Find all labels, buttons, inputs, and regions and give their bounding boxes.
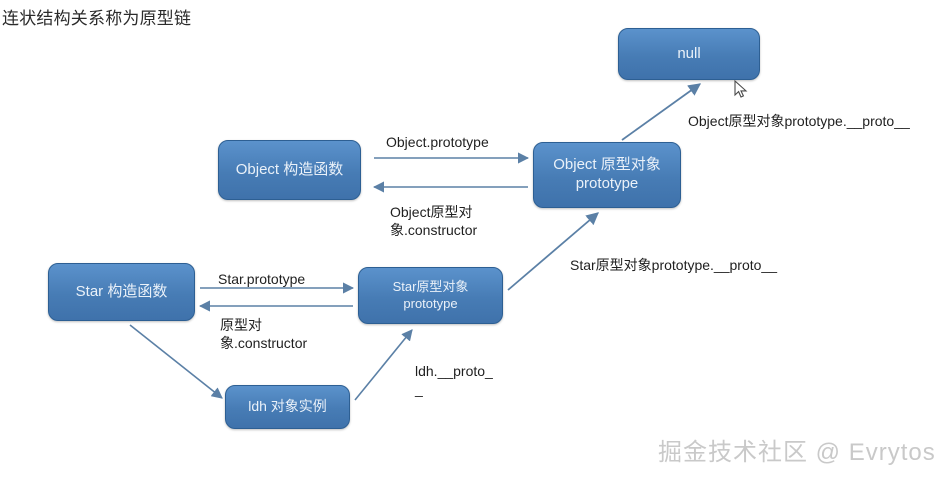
edge-ldh-to-starprototype	[355, 330, 412, 400]
edge-layer	[0, 0, 949, 480]
edge-label-star-prototype: Star.prototype	[218, 270, 305, 288]
edge-label-object-proto-chain-text: Object原型对象prototype.__proto__	[688, 112, 910, 130]
node-object-prototype-label-line2: prototype	[553, 175, 661, 194]
edge-label-object-constructor: Object原型对 象.constructor	[390, 203, 477, 239]
node-star-prototype[interactable]: Star原型对象 prototype	[358, 267, 503, 324]
node-ldh-instance[interactable]: ldh 对象实例	[225, 385, 350, 429]
edge-label-star-proto-chain-text: Star原型对象prototype.__proto__	[570, 256, 777, 274]
page-title: 连状结构关系称为原型链	[2, 4, 191, 29]
node-object-constructor[interactable]: Object 构造函数	[218, 140, 361, 200]
diagram-canvas: 连状结构关系称为原型链 null	[0, 0, 949, 480]
node-star-constructor-label: Star 构造函数	[76, 283, 168, 302]
edge-label-object-proto-chain: Object原型对象prototype.__proto__	[688, 112, 910, 130]
node-star-constructor[interactable]: Star 构造函数	[48, 263, 195, 321]
edge-label-star-constructor: 原型对 象.constructor	[220, 316, 307, 352]
node-null-label: null	[677, 45, 700, 64]
edge-label-star-constructor-line2: 象.constructor	[220, 334, 307, 352]
edge-label-object-constructor-line1: Object原型对	[390, 203, 477, 221]
node-object-constructor-label: Object 构造函数	[236, 161, 344, 180]
node-star-prototype-label-line1: Star原型对象	[393, 279, 469, 295]
node-ldh-instance-label: ldh 对象实例	[248, 398, 327, 416]
edge-starconstructor-to-ldh	[130, 325, 222, 398]
edge-starprototype-to-objectprototype	[508, 213, 598, 290]
watermark: 掘金技术社区 @ Evrytos	[658, 432, 936, 467]
node-null[interactable]: null	[618, 28, 760, 80]
edge-label-ldh-proto-line2: _	[415, 380, 493, 398]
edge-label-object-prototype: Object.prototype	[386, 133, 489, 151]
edge-label-star-constructor-line1: 原型对	[220, 316, 307, 334]
edge-label-object-constructor-line2: 象.constructor	[390, 221, 477, 239]
edge-label-object-prototype-text: Object.prototype	[386, 133, 489, 151]
mouse-pointer-icon	[734, 80, 750, 100]
edge-label-star-proto-chain: Star原型对象prototype.__proto__	[570, 256, 777, 274]
edge-label-ldh-proto: ldh.__proto_ _	[415, 362, 493, 398]
node-object-prototype[interactable]: Object 原型对象 prototype	[533, 142, 681, 208]
edge-label-ldh-proto-line1: ldh.__proto_	[415, 362, 493, 380]
node-object-prototype-label-line1: Object 原型对象	[553, 156, 661, 175]
edge-label-star-prototype-text: Star.prototype	[218, 270, 305, 288]
node-star-prototype-label-line2: prototype	[393, 296, 469, 312]
